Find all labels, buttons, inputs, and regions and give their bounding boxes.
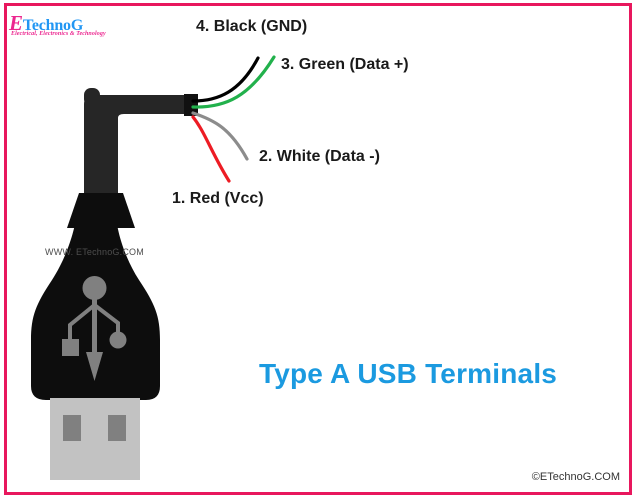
wire-label-red-vcc: 1. Red (Vcc): [172, 190, 264, 208]
wire-white-data-minus: [193, 113, 247, 159]
wire-black-gnd: [193, 58, 258, 101]
usb-metal-slot-right: [108, 415, 126, 441]
cable-jacket: [84, 95, 196, 193]
wire-label-white-data-minus: 2. White (Data -): [259, 148, 380, 166]
wire-label-green-data-plus: 3. Green (Data +): [281, 56, 409, 74]
diagram-title: Type A USB Terminals: [259, 358, 557, 390]
plug-watermark: WWW. ETechnoG.COM: [45, 247, 144, 257]
usb-metal-slot-left: [63, 415, 81, 441]
usb-diagram-canvas: ETechnoG Electrical, Electronics & Techn…: [0, 0, 639, 502]
cable-jacket-cap: [84, 88, 100, 106]
connector-strain-relief: [67, 193, 135, 228]
wire-red-vcc: [193, 117, 229, 181]
wire-label-black-gnd: 4. Black (GND): [196, 18, 307, 36]
copyright-notice: ©ETechnoG.COM: [532, 471, 620, 483]
